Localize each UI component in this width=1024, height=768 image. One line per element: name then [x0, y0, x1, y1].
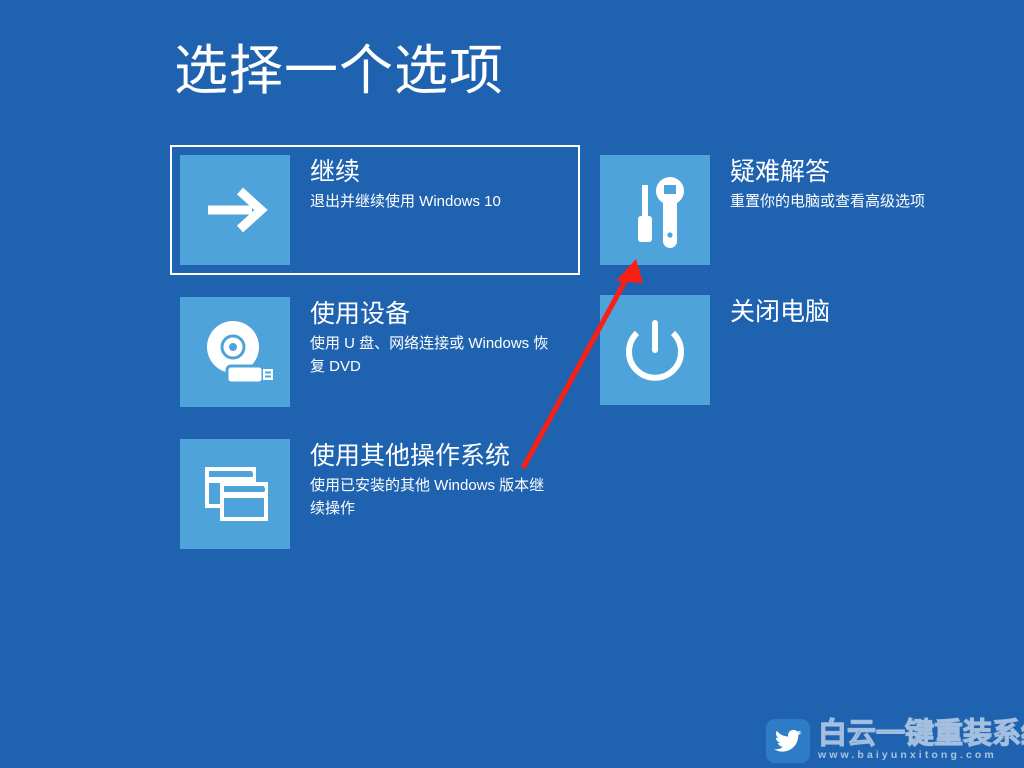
- watermark-text: 白云一键重装系统 www.baiyunxitong.com: [810, 719, 1024, 763]
- options-column-right: 疑难解答 重置你的电脑或查看高级选项 关闭电脑: [600, 155, 1000, 405]
- option-continue[interactable]: 继续 退出并继续使用 Windows 10: [170, 145, 580, 275]
- option-description: 使用 U 盘、网络连接或 Windows 恢复 DVD: [310, 332, 555, 379]
- watermark-url: www.baiyunxitong.com: [818, 749, 1024, 762]
- option-troubleshoot-tile: [600, 155, 710, 265]
- option-troubleshoot[interactable]: 疑难解答 重置你的电脑或查看高级选项: [600, 155, 1000, 265]
- watermark-brand-name: 白云一键重装系统: [818, 719, 1024, 749]
- option-use-a-device[interactable]: 使用设备 使用 U 盘、网络连接或 Windows 恢复 DVD: [170, 287, 580, 417]
- option-description: 使用已安装的其他 Windows 版本继续操作: [310, 474, 555, 521]
- watermark: 白云一键重装系统 www.baiyunxitong.com: [766, 718, 1016, 764]
- option-use-a-device-tile: [180, 297, 290, 407]
- page-title: 选择一个选项: [174, 40, 504, 102]
- option-use-a-device-labels: 使用设备 使用 U 盘、网络连接或 Windows 恢复 DVD: [290, 297, 570, 378]
- option-turn-off-your-pc-labels: 关闭电脑: [710, 295, 1000, 330]
- option-description: 退出并继续使用 Windows 10: [310, 190, 555, 213]
- option-continue-labels: 继续 退出并继续使用 Windows 10: [290, 155, 570, 213]
- option-use-another-operating-system[interactable]: 使用其他操作系统 使用已安装的其他 Windows 版本继续操作: [170, 429, 580, 559]
- options-column-left: 继续 退出并继续使用 Windows 10: [170, 145, 580, 559]
- option-continue-tile: [180, 155, 290, 265]
- option-use-another-operating-system-tile: [180, 439, 290, 549]
- option-title: 使用其他操作系统: [310, 441, 570, 472]
- option-description: 重置你的电脑或查看高级选项: [730, 190, 1000, 213]
- watermark-badge: [766, 719, 810, 763]
- option-turn-off-your-pc[interactable]: 关闭电脑: [600, 295, 1000, 405]
- option-title: 关闭电脑: [730, 297, 1000, 328]
- option-troubleshoot-labels: 疑难解答 重置你的电脑或查看高级选项: [710, 155, 1000, 213]
- option-title: 疑难解答: [730, 157, 1000, 188]
- option-use-another-operating-system-labels: 使用其他操作系统 使用已安装的其他 Windows 版本继续操作: [290, 439, 570, 520]
- option-turn-off-your-pc-tile: [600, 295, 710, 405]
- option-title: 使用设备: [310, 299, 570, 330]
- option-title: 继续: [310, 157, 570, 188]
